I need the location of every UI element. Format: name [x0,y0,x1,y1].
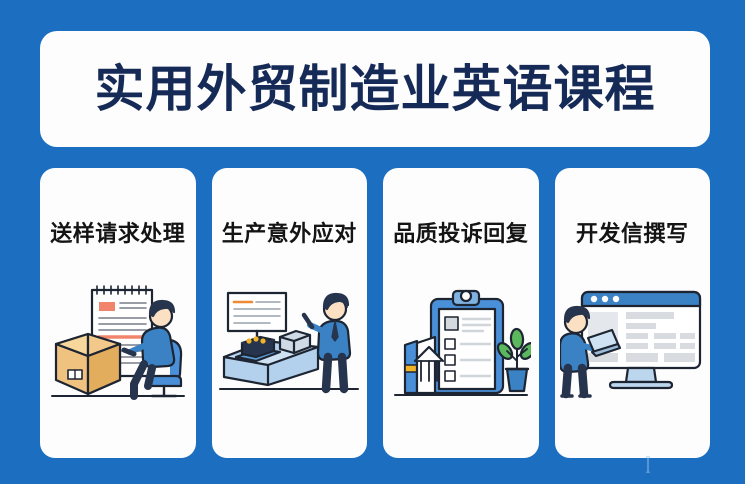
sample-request-svg [48,280,188,408]
topic-card-title: 送样请求处理 [40,216,196,248]
topic-card-production-incident[interactable]: 生产意外应对 [212,168,368,458]
development-letter-illustration [555,264,711,424]
topic-card-title: 生产意外应对 [212,216,368,248]
quality-complaint-svg [391,281,531,407]
development-letter-svg [560,282,704,406]
topic-card-title: 开发信撰写 [555,216,711,248]
text-cursor-artifact [646,456,650,473]
production-incident-svg [218,285,360,403]
poster-title-card: 实用外贸制造业英语课程 [40,31,710,147]
topic-card-development-letter[interactable]: 开发信撰写 [555,168,711,458]
topic-card-title: 品质投诉回复 [383,216,539,248]
topic-card-quality-complaint[interactable]: 品质投诉回复 [383,168,539,458]
page-title: 实用外贸制造业英语课程 [95,64,656,114]
quality-complaint-illustration [383,264,539,424]
sample-request-illustration [40,264,196,424]
production-incident-illustration [212,264,368,424]
course-topic-card-row: 送样请求处理 [40,168,710,458]
topic-card-sample-request[interactable]: 送样请求处理 [40,168,196,458]
